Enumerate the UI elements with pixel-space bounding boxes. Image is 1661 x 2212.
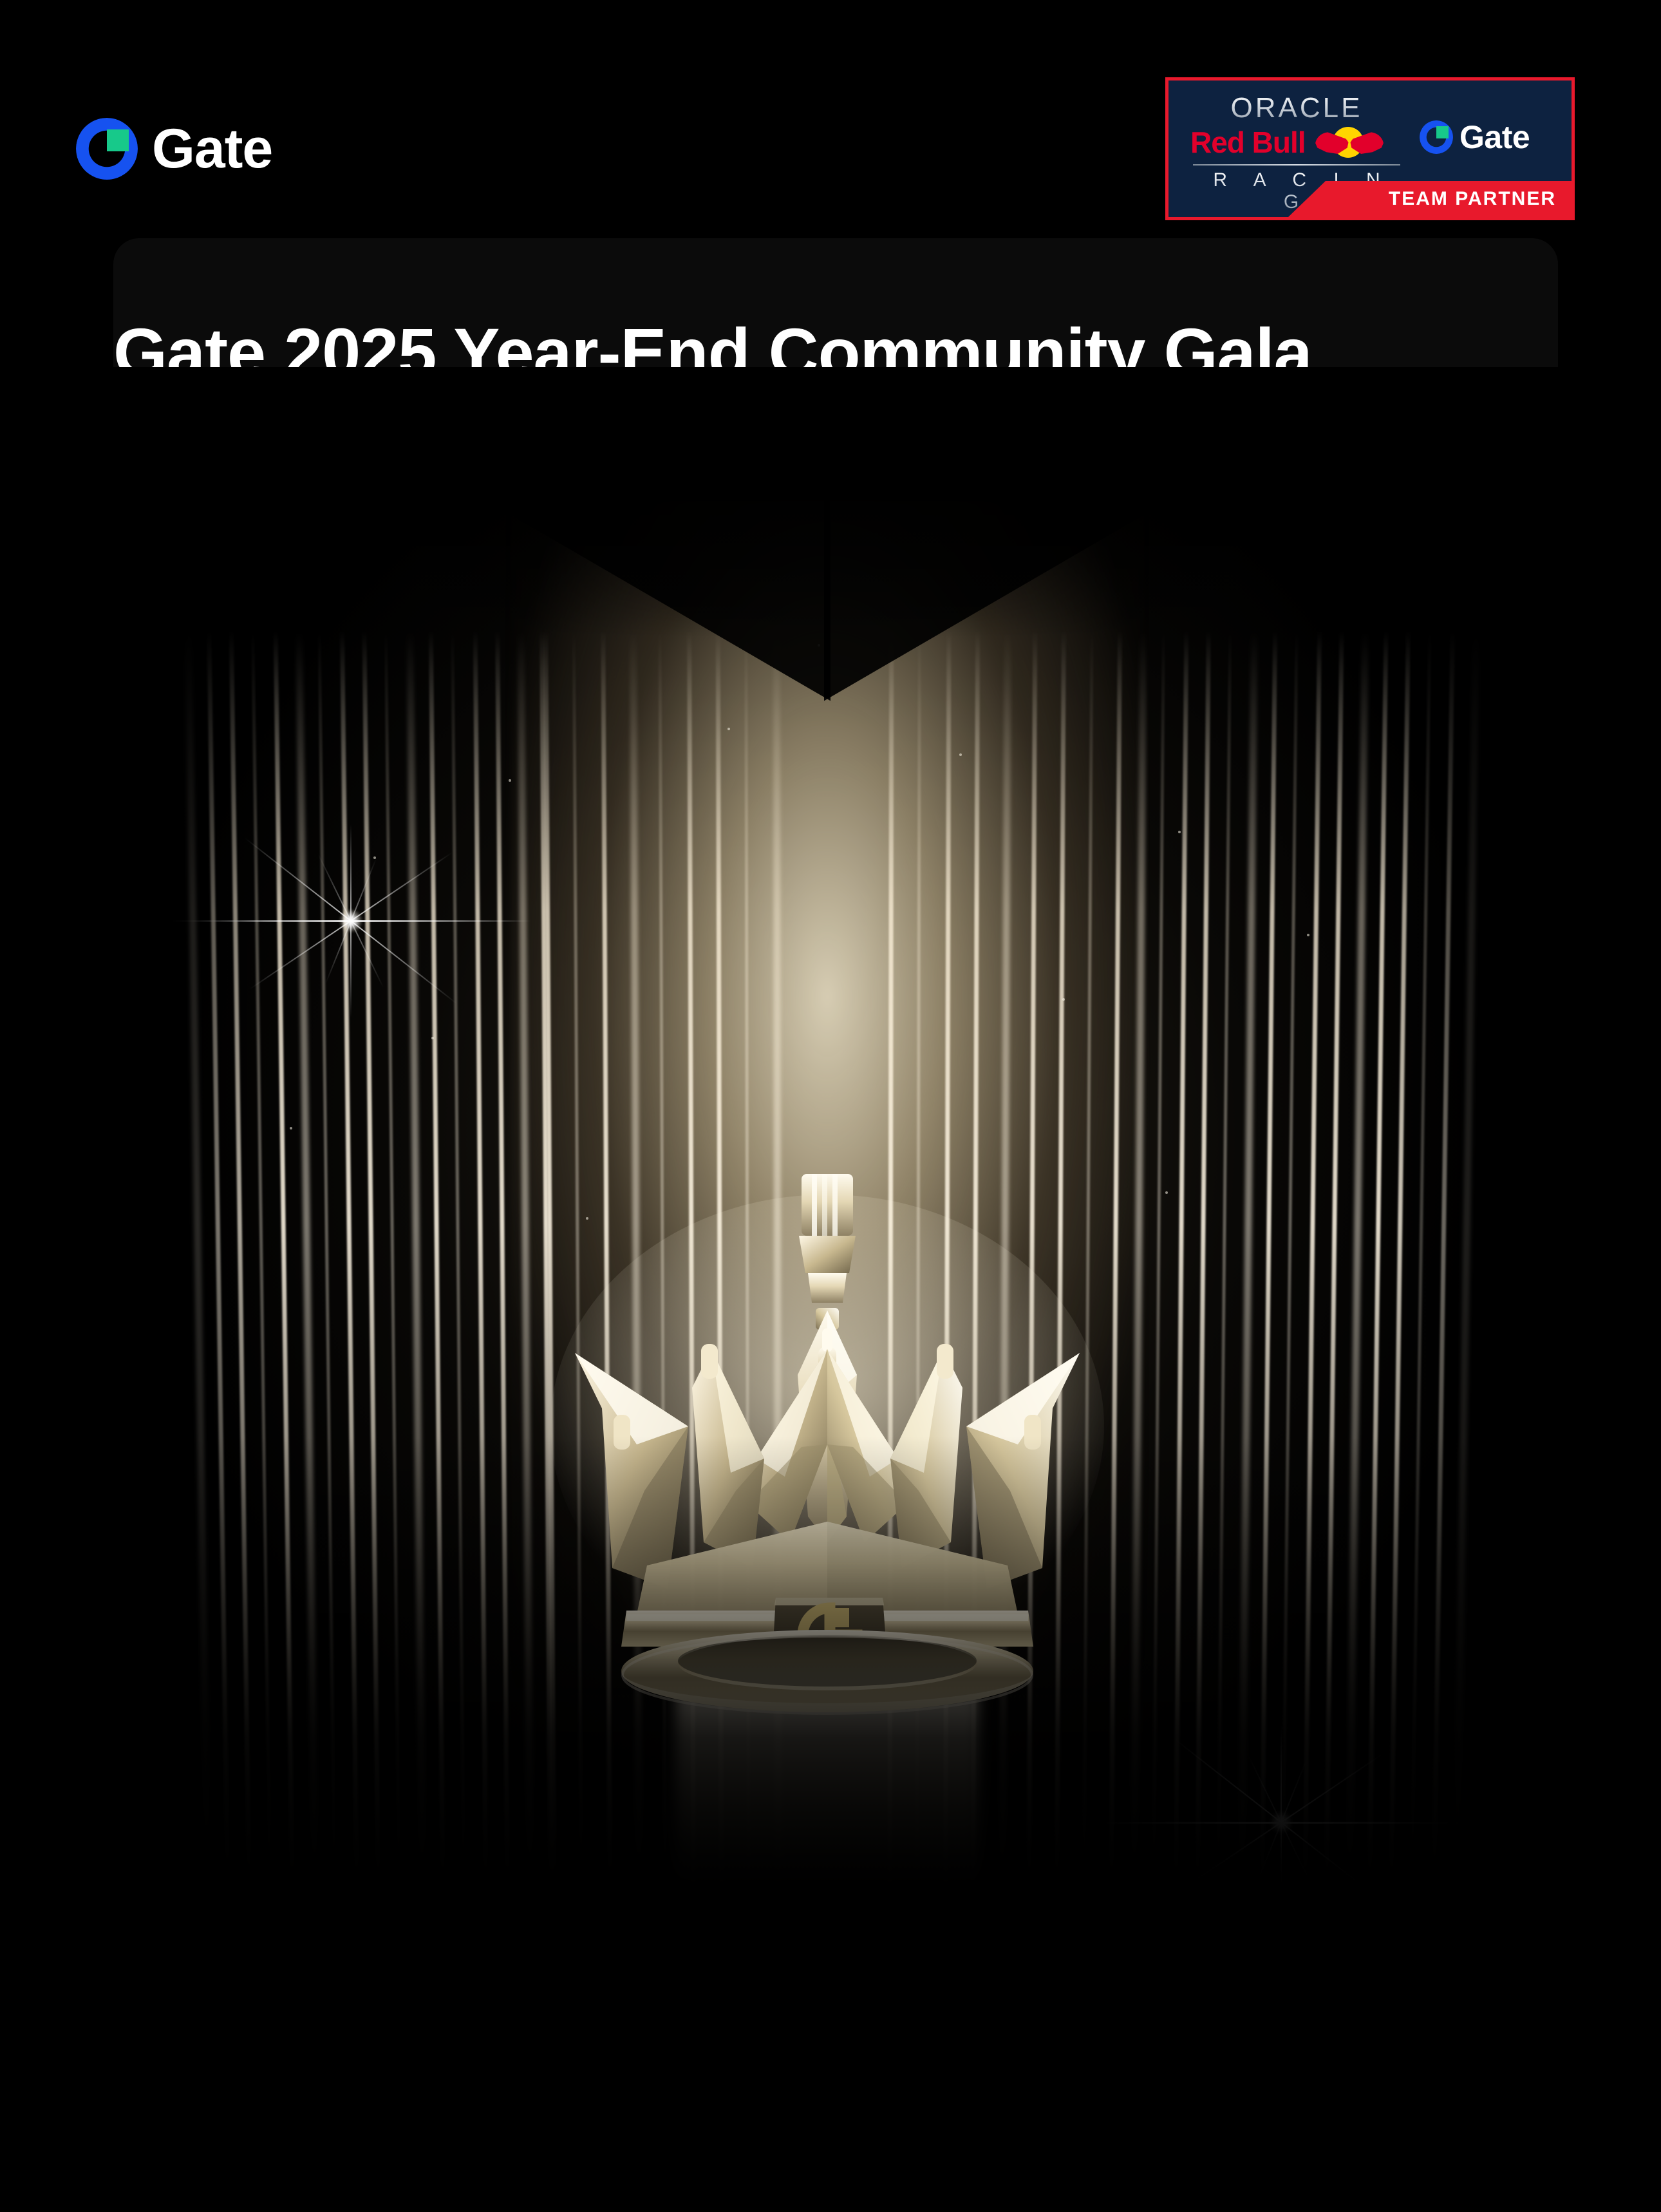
team-partner-label: TEAM PARTNER xyxy=(1389,188,1556,210)
dust-mote xyxy=(1062,998,1065,1001)
dust-mote xyxy=(1178,831,1181,833)
dust-mote xyxy=(431,1037,434,1039)
brand-wordmark: Gate xyxy=(152,121,272,176)
divider xyxy=(1193,164,1400,165)
oracle-wordmark: ORACLE xyxy=(1190,92,1403,124)
dust-mote xyxy=(1307,934,1309,936)
brand-logo[interactable]: Gate xyxy=(76,118,272,180)
team-partner-ribbon: TEAM PARTNER xyxy=(1288,181,1572,217)
badge-gate-logo: Gate xyxy=(1420,120,1530,154)
dust-mote xyxy=(727,728,730,730)
gate-logo-icon xyxy=(1420,120,1453,154)
team-partner-badge[interactable]: ORACLE Red Bull R A C I N G xyxy=(1165,77,1575,220)
dust-mote xyxy=(509,779,511,782)
dust-mote xyxy=(373,856,376,859)
dust-mote xyxy=(959,753,962,756)
hero-vignette-bottom xyxy=(113,1436,1558,2016)
hero-vignette-top xyxy=(113,367,1558,638)
poster-page: Gate ORACLE Red Bull R A C I N G xyxy=(0,0,1661,2212)
badge-gate-wordmark: Gate xyxy=(1459,121,1530,153)
red-bull-icon xyxy=(1313,126,1385,159)
dust-mote xyxy=(290,1127,292,1130)
page-header: Gate ORACLE Red Bull R A C I N G xyxy=(0,0,1661,238)
dust-mote xyxy=(1165,1191,1168,1194)
hero-image xyxy=(113,367,1558,2016)
gate-logo-icon xyxy=(76,118,138,180)
red-bull-wordmark: Red Bull xyxy=(1190,127,1306,158)
event-card: Gate 2025 Year-End Community Gala Top St… xyxy=(113,238,1558,2016)
